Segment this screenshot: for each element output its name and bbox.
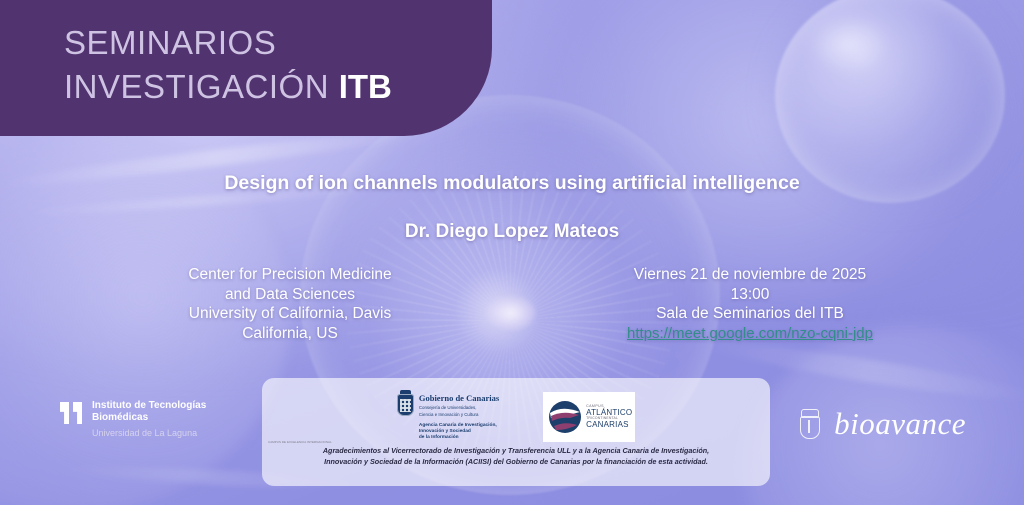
gobierno-dept-line2: Ciencia e Innovación y Cultura [419, 412, 499, 417]
seminar-poster: SEMINARIOS INVESTIGACIÓN ITB Design of i… [0, 0, 1024, 505]
itb-name-line1: Instituto de Tecnologías [92, 400, 206, 412]
gobierno-logo-text: Gobierno de Canarias Consejería de Unive… [419, 393, 499, 440]
talk-speaker: Dr. Diego Lopez Mateos [0, 221, 1024, 243]
event-details-block: Viernes 21 de noviembre de 2025 13:00 Sa… [570, 265, 930, 343]
gobierno-title: Gobierno de Canarias [419, 393, 499, 403]
event-venue: Sala de Seminarios del ITB [570, 304, 930, 324]
affiliation-line-1: Center for Precision Medicine [110, 265, 470, 285]
affiliation-line-2: and Data Sciences [110, 285, 470, 305]
banner-itb-accent: ITB [339, 68, 392, 105]
canarias-shield-icon [397, 394, 414, 416]
campus-logo-text: CAMPUS ATLÁNTICO TRICONTINENTAL CANARIAS [586, 405, 632, 429]
bioavance-logo: bioavance [797, 406, 966, 442]
affiliation-block: Center for Precision Medicine and Data S… [110, 265, 470, 343]
itb-logo-text: Instituto de Tecnologías Biomédicas Univ… [92, 400, 206, 439]
event-meet-link[interactable]: https://meet.google.com/nzo-cqni-jdp [627, 325, 873, 342]
footer-panel: Gobierno de Canarias Consejería de Unive… [262, 378, 770, 486]
banner-title-line1: SEMINARIOS [64, 24, 276, 62]
event-time: 13:00 [570, 285, 930, 305]
sponsor-logo-row: Gobierno de Canarias Consejería de Unive… [262, 386, 770, 448]
campus-atlantico-logo: CAMPUS ATLÁNTICO TRICONTINENTAL CANARIAS… [543, 392, 635, 442]
itb-mark-icon [60, 402, 84, 424]
itb-university: Universidad de La Laguna [92, 427, 206, 439]
starburst-core-decoration [487, 296, 535, 330]
event-date: Viernes 21 de noviembre de 2025 [570, 265, 930, 285]
acknowledgement-line-2: Innovación y Sociedad de la Información … [274, 457, 758, 468]
affiliation-line-4: California, US [110, 324, 470, 344]
campus-footer-text: CAMPUS DE EXCELENCIA INTERNACIONAL [268, 440, 332, 444]
banner-title-line2: INVESTIGACIÓN ITB [64, 68, 392, 106]
header-banner: SEMINARIOS INVESTIGACIÓN ITB [0, 0, 492, 136]
gobierno-agency-line3: de la Información [419, 435, 499, 441]
gobierno-de-canarias-logo: Gobierno de Canarias Consejería de Unive… [397, 393, 499, 440]
bioavance-wordmark: bioavance [834, 406, 966, 442]
gobierno-dept-line1: Consejería de Universidades, [419, 405, 499, 410]
itb-name-line2: Biomédicas [92, 412, 206, 424]
campus-globe-icon [548, 400, 582, 434]
acknowledgement-text: Agradecimientos al Vicerrectorado de Inv… [274, 446, 758, 467]
affiliation-line-3: University of California, Davis [110, 304, 470, 324]
acknowledgement-line-1: Agradecimientos al Vicerrectorado de Inv… [274, 446, 758, 457]
campus-word-canarias: CANARIAS [586, 421, 632, 429]
itb-logo: Instituto de Tecnologías Biomédicas Univ… [60, 400, 206, 439]
crest-icon [797, 409, 821, 439]
banner-title-line2-text: INVESTIGACIÓN [64, 68, 339, 105]
talk-title: Design of ion channels modulators using … [0, 172, 1024, 195]
